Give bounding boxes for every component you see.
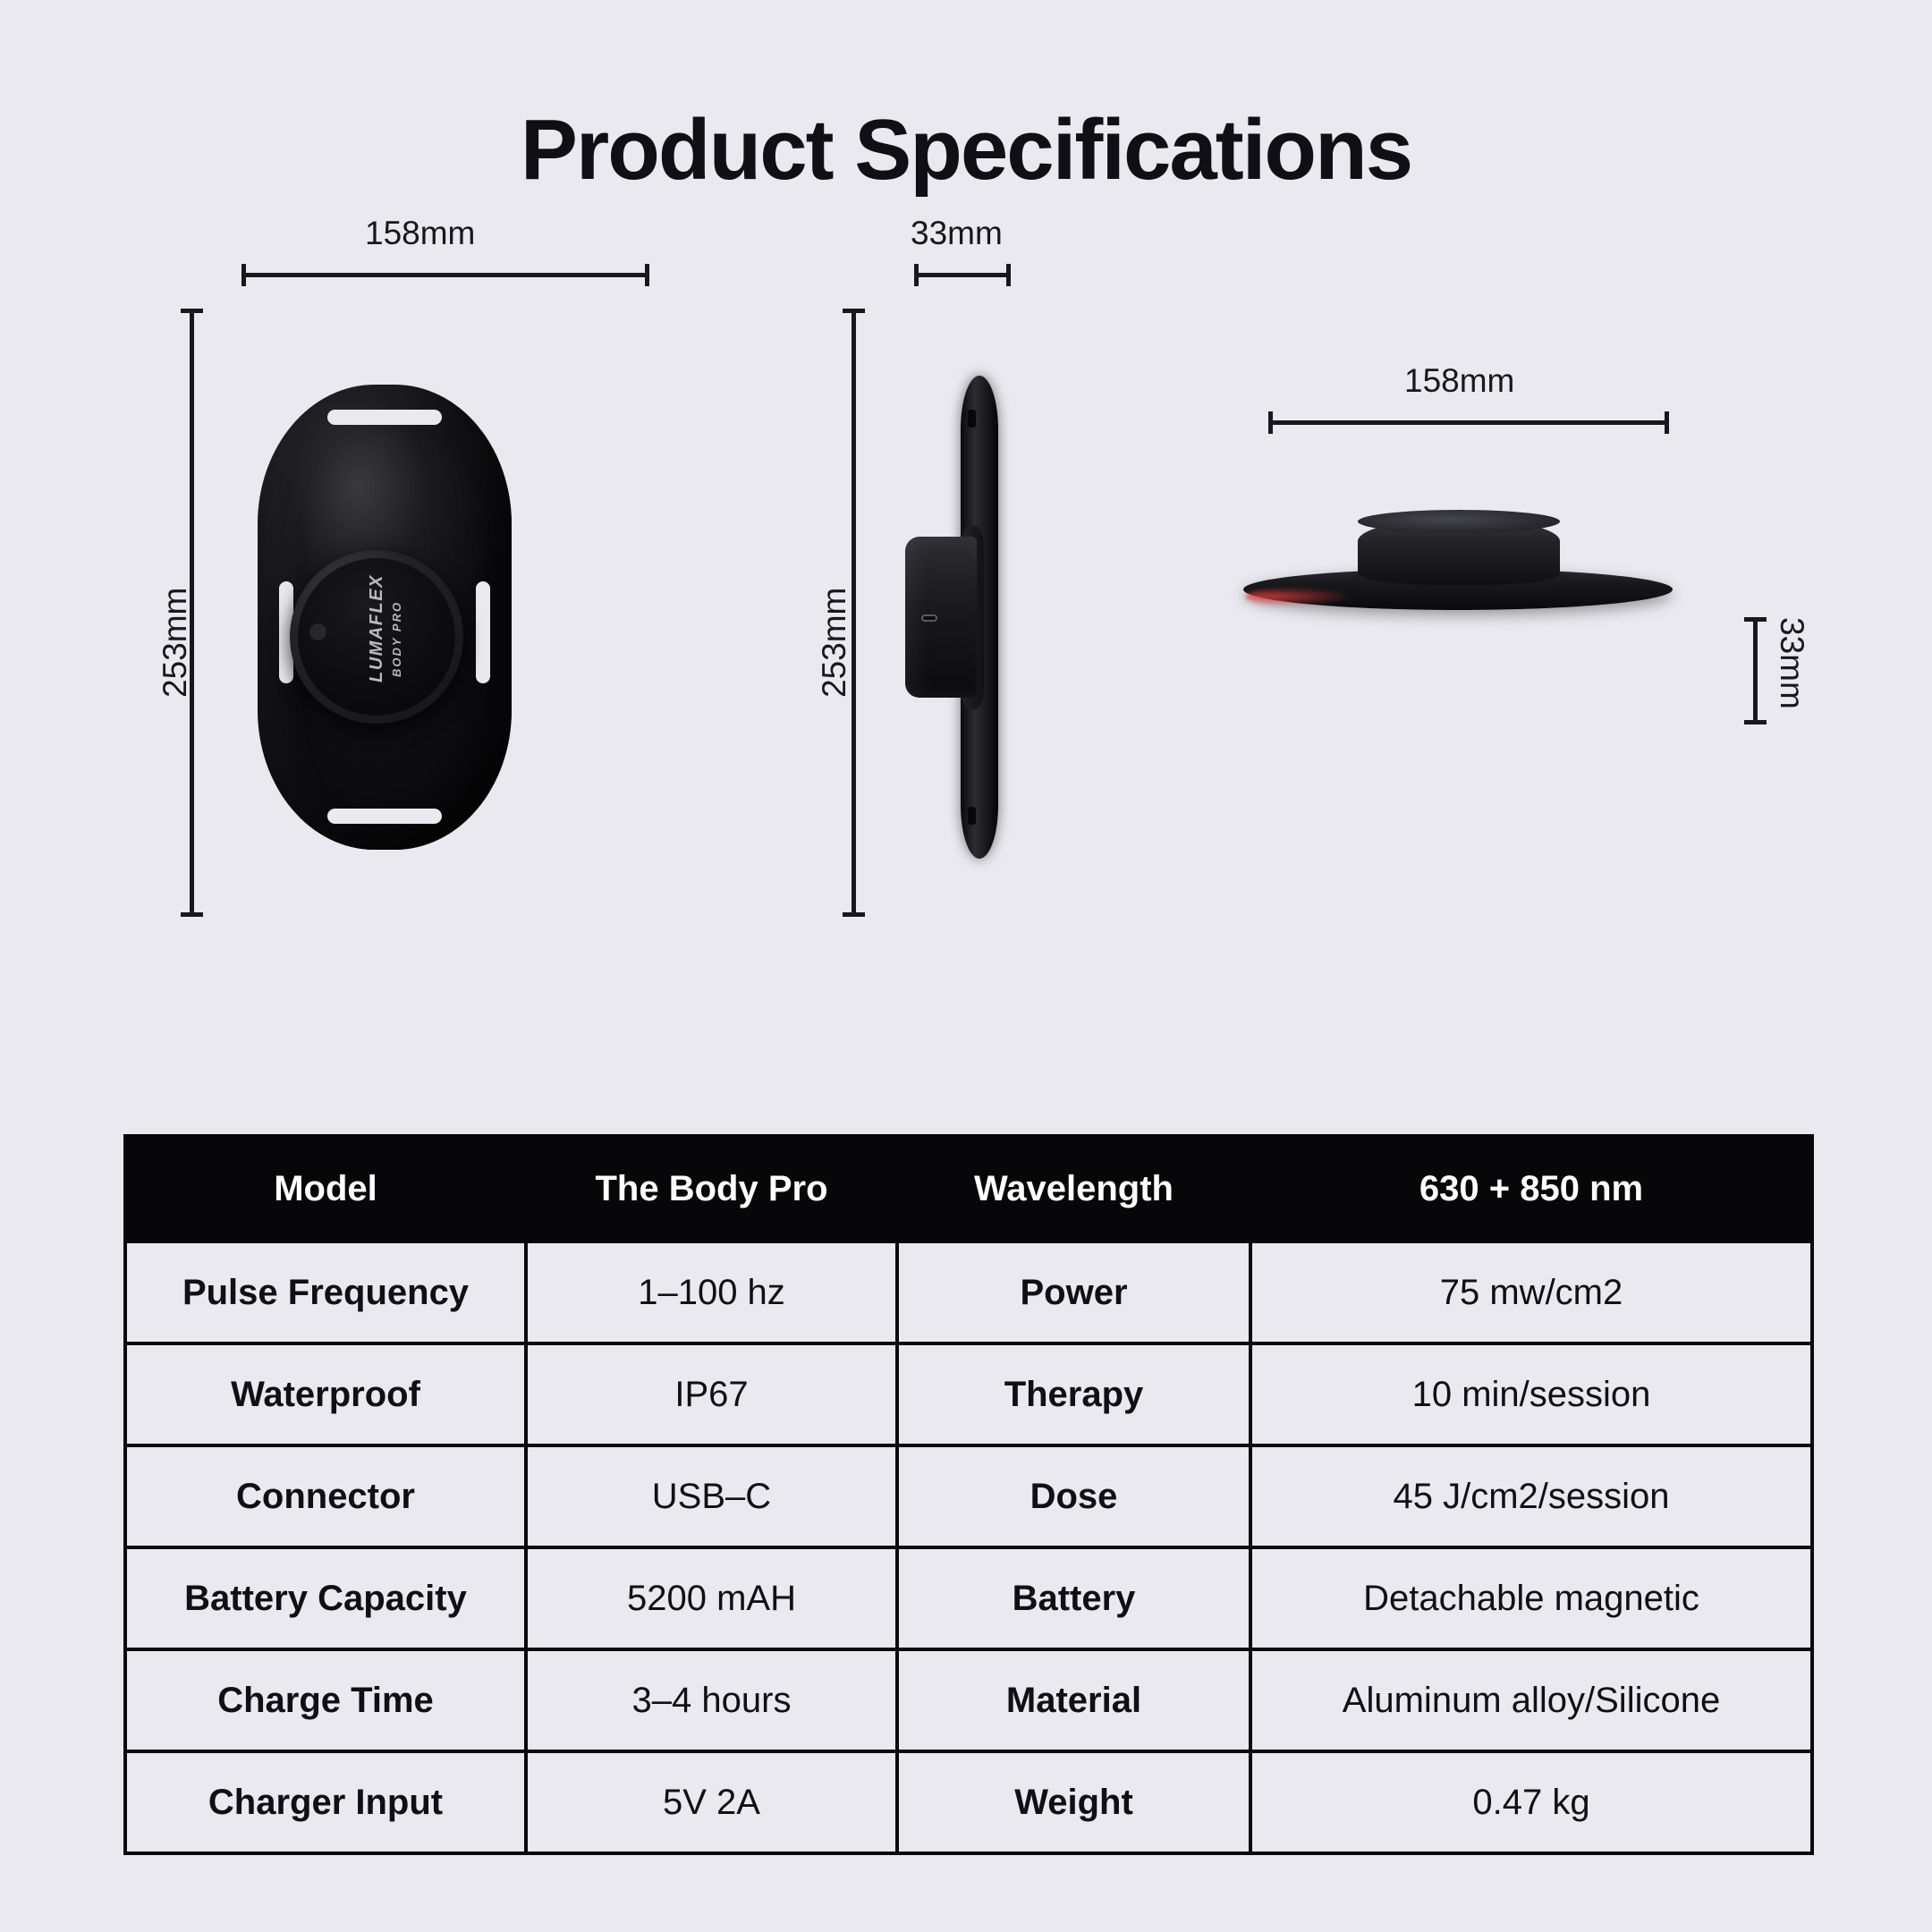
side-width-label: 33mm (911, 215, 1003, 252)
table-row: Charger Input 5V 2A Weight 0.47 kg (125, 1751, 1812, 1853)
header-cell-wavelength-value: 630 + 850 nm (1250, 1136, 1812, 1241)
spec-key: Battery Capacity (125, 1547, 526, 1649)
strap-slot-top (327, 410, 442, 425)
side-pad-notch-bottom (968, 807, 976, 825)
red-light-glow (1245, 587, 1352, 606)
side-height-dimension-bar (852, 309, 856, 917)
perspective-width-dimension-bar (1268, 420, 1669, 425)
page-title: Product Specifications (0, 107, 1932, 193)
front-hub-module: LUMAFLEX BODY PRO (290, 550, 463, 724)
side-height-label: 253mm (816, 588, 853, 698)
spec-value: IP67 (526, 1343, 897, 1445)
header-cell-model-value: The Body Pro (526, 1136, 897, 1241)
side-width-dimension-bar (914, 273, 1011, 277)
perspective-view (1243, 483, 1673, 626)
spec-key: Dose (897, 1445, 1250, 1547)
spec-value: 45 J/cm2/session (1250, 1445, 1812, 1547)
spec-key: Connector (125, 1445, 526, 1547)
spec-key: Charger Input (125, 1751, 526, 1853)
spec-value: Detachable magnetic (1250, 1547, 1812, 1649)
spec-key: Power (897, 1241, 1250, 1343)
spec-value: 10 min/session (1250, 1343, 1812, 1445)
table-row: Connector USB–C Dose 45 J/cm2/session (125, 1445, 1812, 1547)
front-width-label: 158mm (365, 215, 475, 252)
spec-value: USB–C (526, 1445, 897, 1547)
header-cell-model-key: Model (125, 1136, 526, 1241)
perspective-hub-top (1358, 510, 1560, 533)
spec-key: Pulse Frequency (125, 1241, 526, 1343)
usb-c-port-icon (921, 614, 937, 622)
spec-value: 5200 mAH (526, 1547, 897, 1649)
side-hub-module (905, 537, 977, 698)
spec-value: 1–100 hz (526, 1241, 897, 1343)
strap-slot-bottom (327, 809, 442, 824)
spec-value: 3–4 hours (526, 1649, 897, 1751)
product-views: 158mm 253mm LUMAFLEX BODY PRO 33mm 253mm… (0, 241, 1932, 1100)
table-row: Battery Capacity 5200 mAH Battery Detach… (125, 1547, 1812, 1649)
perspective-height-label: 33mm (1773, 617, 1810, 709)
perspective-width-label: 158mm (1404, 362, 1514, 400)
hub-model-label: BODY PRO (390, 601, 403, 677)
spec-key: Material (897, 1649, 1250, 1751)
front-height-dimension-bar (190, 309, 194, 917)
strap-slot-right (476, 581, 490, 683)
front-width-dimension-bar (241, 273, 649, 277)
front-view: LUMAFLEX BODY PRO (258, 385, 512, 850)
spec-value: 0.47 kg (1250, 1751, 1812, 1853)
spec-key: Weight (897, 1751, 1250, 1853)
spec-value: Aluminum alloy/Silicone (1250, 1649, 1812, 1751)
spec-key: Charge Time (125, 1649, 526, 1751)
hub-brand-label: LUMAFLEX (367, 574, 387, 682)
table-row: Charge Time 3–4 hours Material Aluminum … (125, 1649, 1812, 1751)
spec-value: 75 mw/cm2 (1250, 1241, 1812, 1343)
table-row: Waterproof IP67 Therapy 10 min/session (125, 1343, 1812, 1445)
side-pad-notch-top (968, 410, 976, 428)
hub-indicator-dot (309, 623, 326, 640)
spec-value: 5V 2A (526, 1751, 897, 1853)
specifications-table: Model The Body Pro Wavelength 630 + 850 … (123, 1134, 1814, 1855)
front-height-label: 253mm (157, 588, 194, 698)
table-header-row: Model The Body Pro Wavelength 630 + 850 … (125, 1136, 1812, 1241)
side-profile-view (894, 376, 1011, 859)
table-row: Pulse Frequency 1–100 hz Power 75 mw/cm2 (125, 1241, 1812, 1343)
header-cell-wavelength-key: Wavelength (897, 1136, 1250, 1241)
spec-key: Battery (897, 1547, 1250, 1649)
spec-key: Waterproof (125, 1343, 526, 1445)
perspective-height-dimension-bar (1753, 617, 1758, 724)
spec-key: Therapy (897, 1343, 1250, 1445)
